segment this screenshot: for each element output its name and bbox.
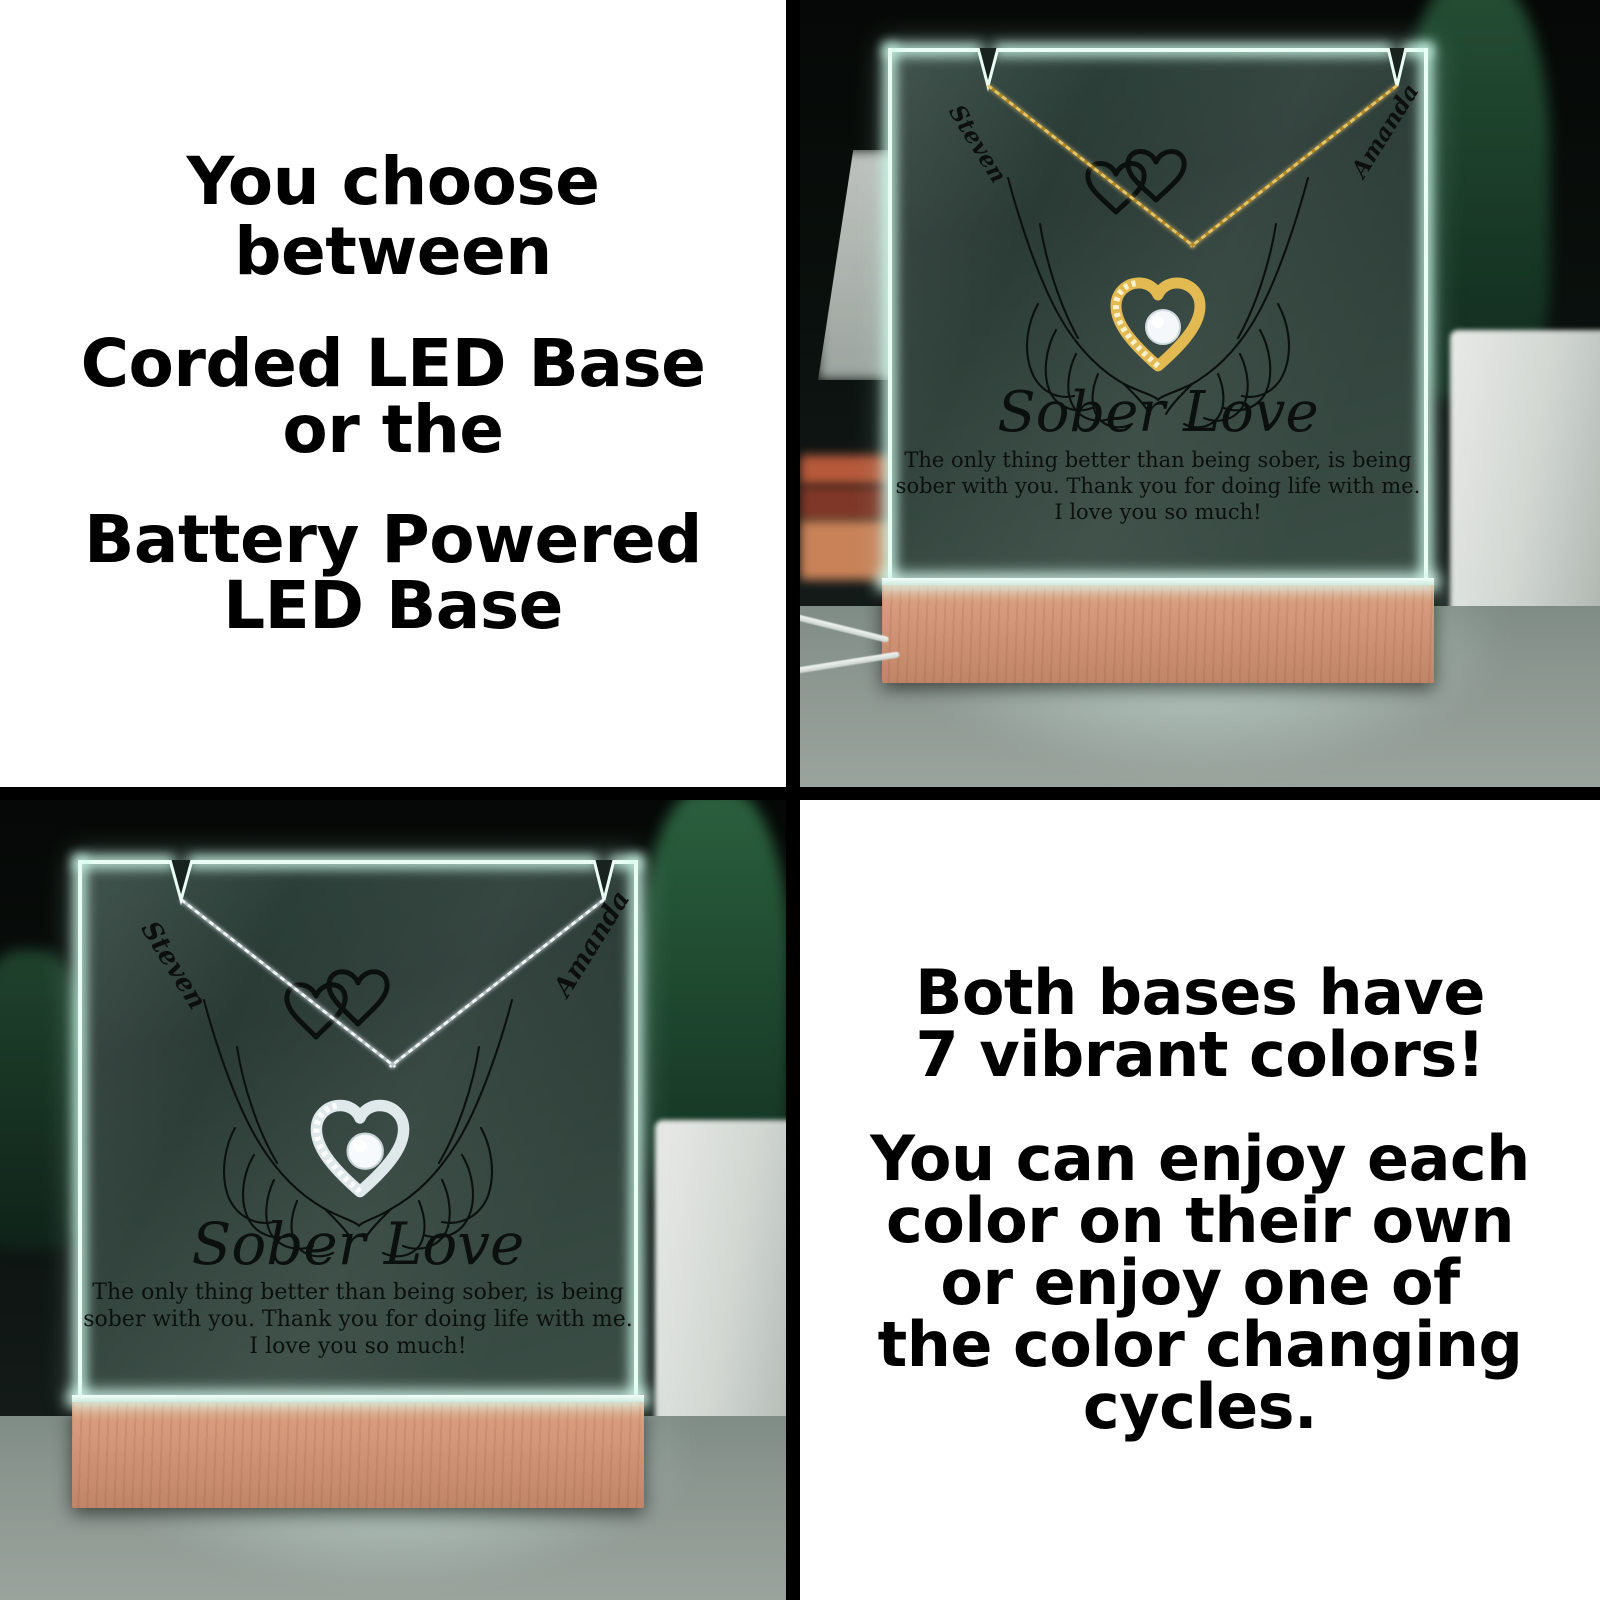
plaque-message-line-3: I love you so much! xyxy=(888,500,1428,526)
plaque-script-title: Sober Love xyxy=(78,1210,638,1278)
base-led-strip xyxy=(72,1395,644,1402)
divider-vertical-bottom xyxy=(786,800,800,1600)
plaque-message-line-3: I love you so much! xyxy=(78,1334,638,1361)
wooden-led-base-corded xyxy=(882,583,1434,683)
option-battery-label-line-1: Battery Powered xyxy=(84,507,702,573)
usage-line-4: the color changing xyxy=(878,1314,1523,1376)
panel-bottom-left-photo-battery: Steven Amanda Sober Love The only thing … xyxy=(0,800,786,1600)
divider-horizontal-right xyxy=(800,787,1600,800)
acrylic-plaque: Steven Amanda Sober Love The only thing … xyxy=(78,860,638,1400)
four-panel-collage: You choose between Corded LED Base or th… xyxy=(0,0,1600,1600)
feature-line-1: Both bases have xyxy=(915,962,1485,1024)
panel-bottom-right-text: Both bases have 7 vibrant colors! You ca… xyxy=(800,800,1600,1600)
divider-vertical-top xyxy=(786,0,800,787)
headline-line-2: between xyxy=(234,219,552,285)
acrylic-plaque: Steven Amanda Sober Love The only thing … xyxy=(888,48,1428,583)
plaque-message-line-2: sober with you. Thank you for doing life… xyxy=(78,1307,638,1334)
divider-horizontal-left xyxy=(0,787,786,800)
plaque-script-title: Sober Love xyxy=(888,380,1428,445)
base-led-strip xyxy=(882,578,1434,585)
usage-line-5: cycles. xyxy=(1083,1376,1317,1438)
usage-line-3: or enjoy one of xyxy=(940,1252,1459,1314)
plaque-message-line-1: The only thing better than being sober, … xyxy=(888,448,1428,474)
divider-center xyxy=(786,787,800,800)
plant-background xyxy=(0,950,90,1250)
plaque-message-line-2: sober with you. Thank you for doing life… xyxy=(888,474,1428,500)
usage-line-1: You can enjoy each xyxy=(870,1128,1530,1190)
feature-line-2: 7 vibrant colors! xyxy=(916,1024,1485,1086)
conjunction-line: or the xyxy=(282,397,503,463)
panel-top-right-photo-corded: Steven Amanda Sober Love The only thing … xyxy=(800,0,1600,787)
headline-line-1: You choose xyxy=(187,149,600,215)
usage-line-2: color on their own xyxy=(886,1190,1514,1252)
heart-pendant-silver xyxy=(306,1092,414,1200)
option-corded-label: Corded LED Base xyxy=(81,331,706,397)
option-battery-label-line-2: LED Base xyxy=(223,573,563,639)
wooden-led-base-battery xyxy=(72,1400,644,1508)
plaque-message-line-1: The only thing better than being sober, … xyxy=(78,1280,638,1307)
panel-top-left-text: You choose between Corded LED Base or th… xyxy=(0,0,786,787)
heart-pendant-gold xyxy=(1106,270,1210,374)
